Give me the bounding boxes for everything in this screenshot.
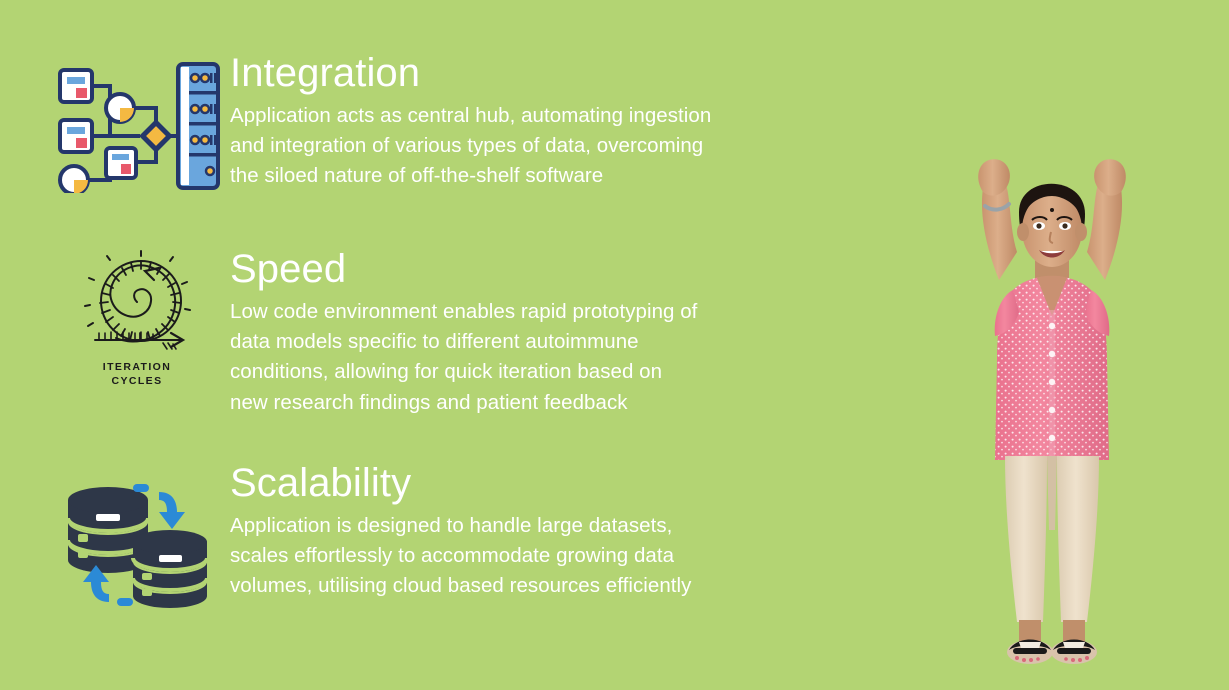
database-stack-right-icon (133, 530, 207, 608)
legs (1005, 456, 1099, 642)
slide-root: Integration Application acts as central … (0, 0, 1229, 690)
body-line: volumes, utilising cloud based resources… (230, 571, 691, 601)
body-line: data models specific to different autoim… (230, 327, 697, 357)
body-line: the siloed nature of off-the-shelf softw… (230, 161, 711, 191)
feature-integration-title: Integration (230, 52, 711, 95)
diamond-hub-icon (139, 119, 173, 153)
body-line: Application is designed to handle large … (230, 511, 691, 541)
iteration-cycles-spiral-icon (75, 248, 200, 358)
iteration-caption-line-2: CYCLES (103, 374, 171, 388)
iteration-cycles-caption: ITERATION CYCLES (103, 360, 171, 388)
feature-scalability-icon-wrap (44, 462, 230, 612)
feature-speed-text: Speed Low code environment enables rapid… (230, 248, 697, 418)
document-node-icon (60, 70, 92, 102)
body-line: conditions, allowing for quick iteration… (230, 357, 697, 387)
feature-speed: ITERATION CYCLES Speed Low code environm… (44, 248, 697, 418)
feature-speed-icon-wrap: ITERATION CYCLES (44, 248, 230, 388)
celebrating-woman-illustration (927, 130, 1177, 690)
feature-scalability-body: Application is designed to handle large … (230, 511, 691, 601)
document-node-icon (60, 120, 92, 152)
database-scaling-icon (62, 472, 212, 612)
feature-integration: Integration Application acts as central … (44, 52, 711, 193)
feature-integration-body: Application acts as central hub, automat… (230, 101, 711, 191)
feature-scalability-title: Scalability (230, 462, 691, 505)
blouse (995, 276, 1110, 460)
body-line: Application acts as central hub, automat… (230, 101, 711, 131)
body-line: scales effortlessly to accommodate growi… (230, 541, 691, 571)
circle-node-icon (60, 166, 88, 193)
feature-integration-text: Integration Application acts as central … (230, 52, 711, 192)
celebrating-woman-photo (927, 130, 1177, 690)
feature-speed-body: Low code environment enables rapid proto… (230, 297, 697, 418)
feature-list: Integration Application acts as central … (0, 0, 860, 690)
feature-scalability: Scalability Application is designed to h… (44, 462, 691, 612)
body-line: and integration of various types of data… (230, 131, 711, 161)
document-node-icon (106, 148, 136, 178)
feature-integration-icon-wrap (44, 52, 230, 193)
server-integration-icon (52, 58, 222, 193)
sandals (1007, 640, 1097, 665)
iteration-caption-line-1: ITERATION (103, 360, 171, 374)
body-line: Low code environment enables rapid proto… (230, 297, 697, 327)
server-tower-icon (178, 64, 218, 188)
feature-scalability-text: Scalability Application is designed to h… (230, 462, 691, 602)
circle-node-icon (106, 94, 134, 122)
feature-speed-title: Speed (230, 248, 697, 291)
body-line: new research findings and patient feedba… (230, 388, 697, 418)
